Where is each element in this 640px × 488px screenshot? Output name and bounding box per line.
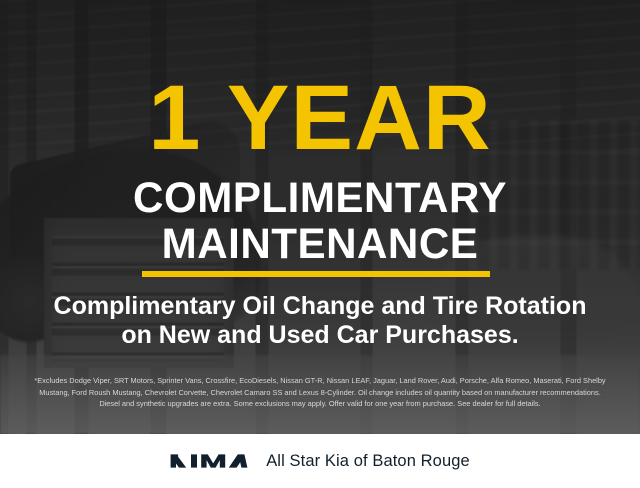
kia-logo	[170, 450, 248, 472]
disclaimer-line-1: *Excludes Dodge Viper, SRT Motors, Sprin…	[14, 375, 626, 387]
disclaimer-line-2: Mustang, Ford Roush Mustang, Chevrolet C…	[14, 387, 626, 399]
headline-primary: 1 YEAR	[0, 72, 640, 164]
footer-bar: All Star Kia of Baton Rouge	[0, 434, 640, 488]
disclaimer-text: *Excludes Dodge Viper, SRT Motors, Sprin…	[14, 375, 626, 410]
promotional-ad: 1 YEAR COMPLIMENTARY MAINTENANCE Complim…	[0, 0, 640, 488]
subheading-line-1: Complimentary Oil Change and Tire Rotati…	[0, 291, 640, 322]
dealer-name: All Star Kia of Baton Rouge	[266, 452, 470, 471]
disclaimer-line-3: Diesel and synthetic upgrades are extra.…	[14, 398, 626, 410]
headline-secondary-complimentary: COMPLIMENTARY	[6, 177, 633, 220]
headline-secondary-maintenance: MAINTENANCE	[6, 223, 633, 266]
yellow-divider-rule	[142, 271, 490, 277]
footer-brand-group: All Star Kia of Baton Rouge	[170, 450, 470, 472]
ad-content: 1 YEAR COMPLIMENTARY MAINTENANCE Complim…	[0, 0, 640, 434]
subheading-line-2: on New and Used Car Purchases.	[0, 320, 640, 351]
